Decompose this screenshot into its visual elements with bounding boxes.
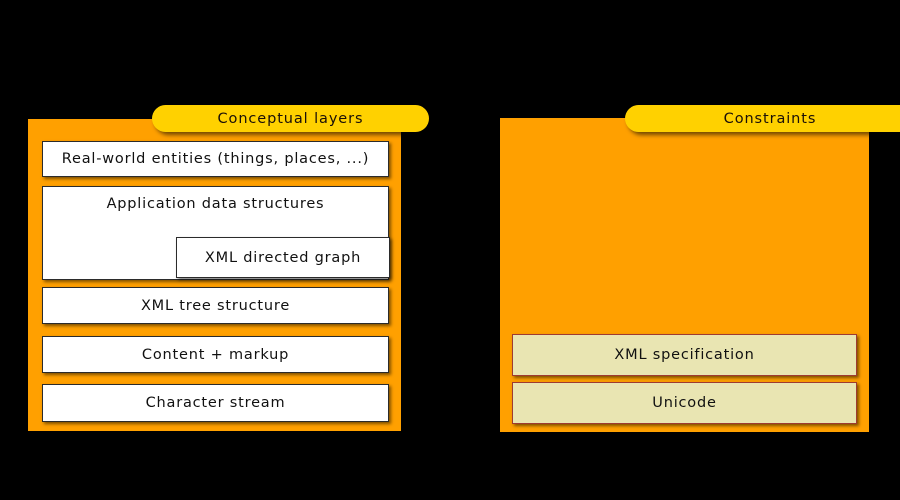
layer-box-label: Content + markup (142, 347, 289, 363)
layer-box-label: Application data structures (107, 196, 325, 212)
layer-box-label: Character stream (146, 395, 286, 411)
layer-box-label: XML directed graph (205, 250, 361, 266)
layer-box-real-world-entities[interactable]: Real-world entities (things, places, ...… (42, 141, 389, 177)
constraint-box-unicode[interactable]: Unicode (512, 382, 857, 424)
constraint-box-label: Unicode (652, 395, 716, 411)
conceptual-layers-title-pill: Conceptual layers (152, 105, 429, 132)
layer-box-label: Real-world entities (things, places, ...… (62, 151, 369, 167)
constraints-title: Constraints (724, 111, 817, 127)
layer-box-character-stream[interactable]: Character stream (42, 384, 389, 422)
constraints-title-pill: Constraints (625, 105, 900, 132)
constraint-box-xml-specification[interactable]: XML specification (512, 334, 857, 376)
layer-box-xml-tree-structure[interactable]: XML tree structure (42, 287, 389, 324)
layer-box-label: XML tree structure (141, 298, 290, 314)
layer-box-xml-directed-graph[interactable]: XML directed graph (176, 237, 390, 278)
diagram-canvas: Real-world entities (things, places, ...… (0, 0, 900, 500)
conceptual-layers-title: Conceptual layers (218, 111, 364, 127)
constraint-box-label: XML specification (614, 347, 754, 363)
layer-box-content-plus-markup[interactable]: Content + markup (42, 336, 389, 373)
